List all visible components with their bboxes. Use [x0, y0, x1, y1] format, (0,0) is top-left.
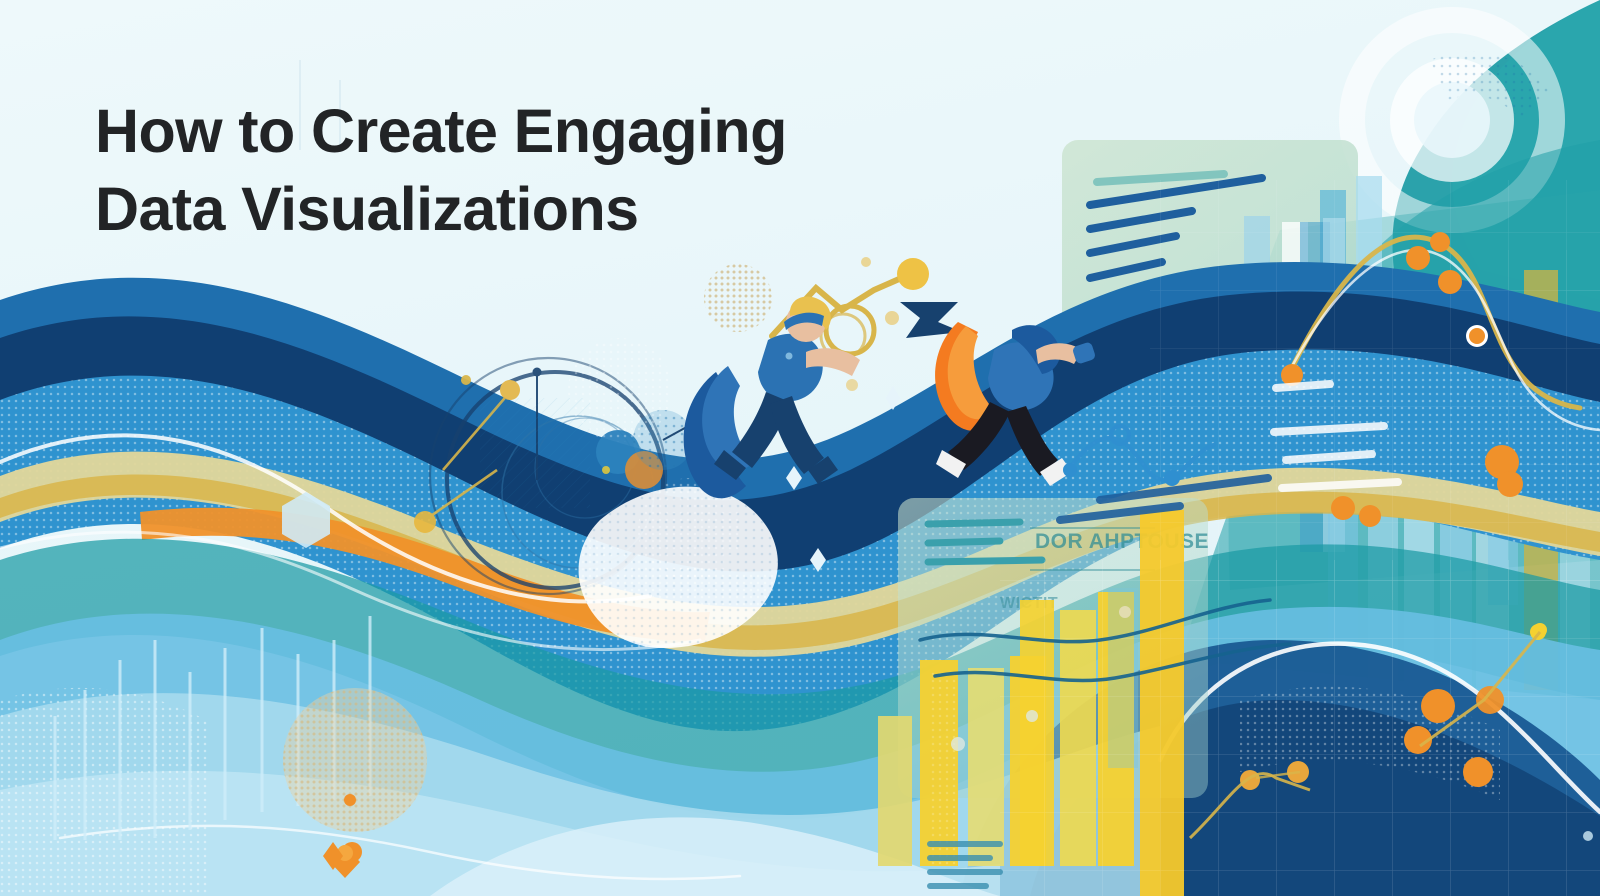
- halftone-blob-upper: [568, 338, 672, 442]
- page-title-line-2: Data Visualizations: [95, 170, 955, 248]
- page-title: How to Create Engaging Data Visualizatio…: [95, 92, 955, 248]
- hero-illustration-canvas: DOR AHPTOUSE WICTIT: [0, 0, 1600, 896]
- page-title-line-1: How to Create Engaging: [95, 92, 955, 170]
- halftone-speckle-left: [0, 688, 210, 896]
- gold-line-endpoint: [897, 258, 929, 290]
- halftone-circle-top: [704, 264, 772, 332]
- grid-lines: [1000, 560, 1600, 896]
